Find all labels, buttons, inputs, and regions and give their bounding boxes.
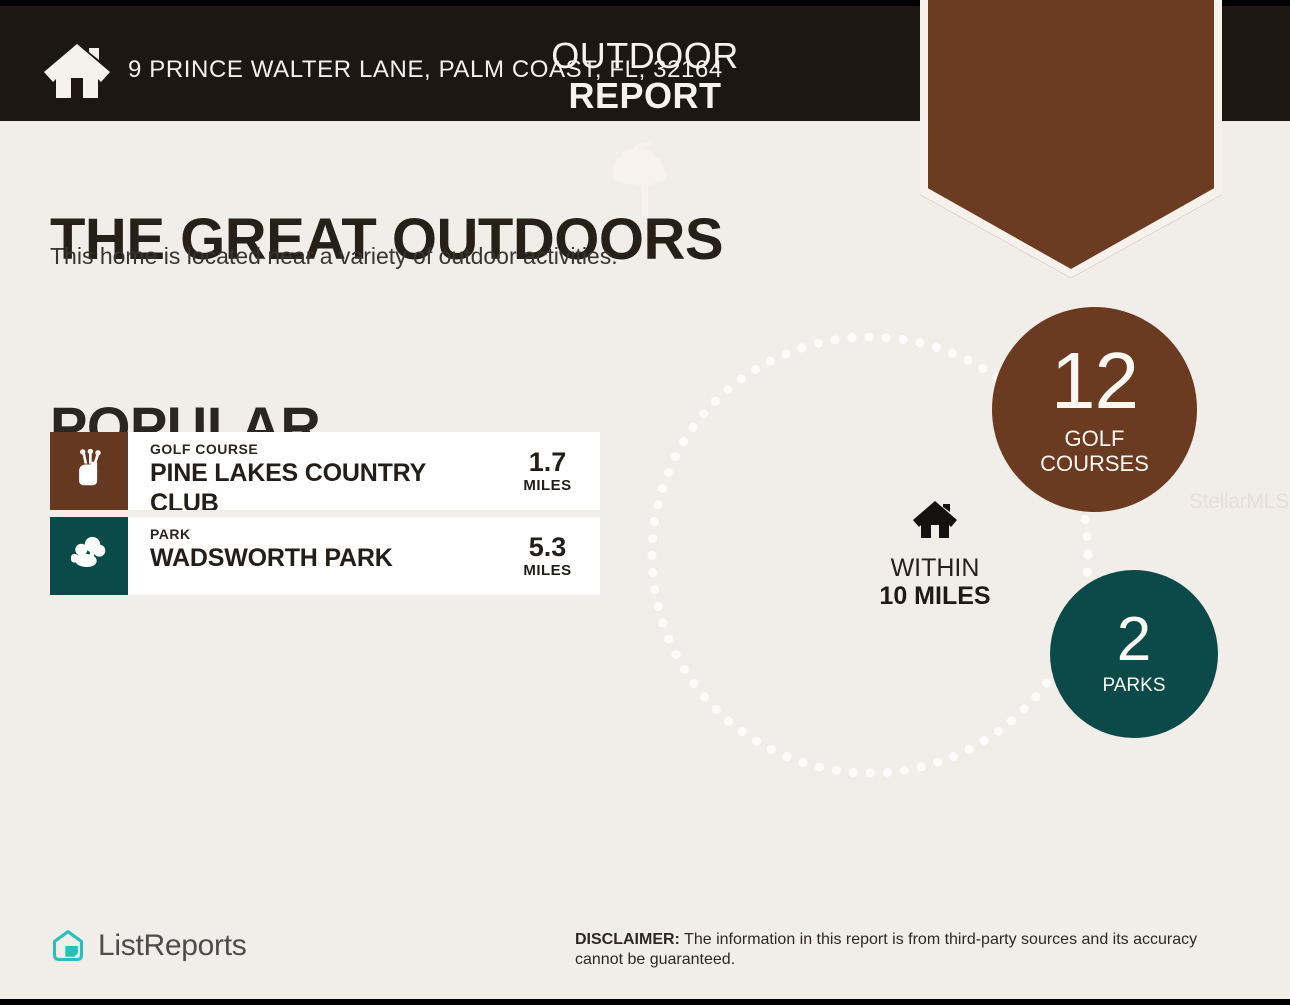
- distance-value: 1.7: [495, 448, 600, 477]
- distance-unit: MILES: [495, 562, 600, 579]
- listreports-logo[interactable]: ListReports: [50, 928, 246, 964]
- center-label-line2: 10 MILES: [845, 582, 1025, 610]
- bottom-edge-strip: [0, 999, 1290, 1005]
- list-item-icon-tile: [50, 517, 128, 595]
- list-item-body: GOLF COURSE PINE LAKES COUNTRY CLUB: [128, 432, 495, 510]
- stat-bubble-golf-courses[interactable]: 12 GOLF COURSES: [992, 307, 1197, 512]
- list-item-category: PARK: [150, 526, 495, 543]
- center-label-line1: WITHIN: [845, 554, 1025, 582]
- golf-courses-label-line1: GOLF: [1040, 426, 1149, 451]
- badge-title-line2: REPORT: [0, 76, 1290, 116]
- stat-bubble-parks[interactable]: 2 PARKS: [1050, 570, 1218, 738]
- list-item-distance: 1.7 MILES: [495, 432, 600, 510]
- stellarmls-watermark: StellarMLS: [1189, 490, 1289, 514]
- listreports-house-icon: [50, 928, 86, 964]
- disclaimer: DISCLAIMER: The information in this repo…: [575, 930, 1245, 970]
- tree-icon: [613, 140, 677, 218]
- proximity-diagram: WITHIN 10 MILES 12 GOLF COURSES 2 PARKS: [640, 300, 1260, 840]
- list-item-distance: 5.3 MILES: [495, 517, 600, 595]
- distance-unit: MILES: [495, 477, 600, 494]
- parks-count: 2: [1117, 611, 1151, 669]
- golf-bag-icon: [71, 449, 107, 494]
- list-item-body: PARK WADSWORTH PARK: [128, 517, 495, 595]
- page-subtitle: This home is located near a variety of o…: [50, 243, 618, 270]
- house-icon: [912, 500, 958, 538]
- popular-list: GOLF COURSE PINE LAKES COUNTRY CLUB 1.7 …: [50, 432, 600, 602]
- diagram-center: WITHIN 10 MILES: [845, 500, 1025, 610]
- distance-value: 5.3: [495, 533, 600, 562]
- golf-courses-count: 12: [1051, 344, 1138, 418]
- list-item-name: PINE LAKES COUNTRY CLUB: [150, 458, 495, 510]
- golf-courses-label: GOLF COURSES: [1040, 426, 1149, 476]
- list-item-name: WADSWORTH PARK: [150, 543, 495, 573]
- list-item-category: GOLF COURSE: [150, 441, 495, 458]
- park-trees-icon: [70, 536, 108, 577]
- parks-label: PARKS: [1102, 675, 1165, 697]
- badge-title-line1: OUTDOOR: [0, 36, 1290, 76]
- list-item[interactable]: PARK WADSWORTH PARK 5.3 MILES: [50, 517, 600, 595]
- list-item-icon-tile: [50, 432, 128, 510]
- golf-courses-label-line2: COURSES: [1040, 451, 1149, 476]
- listreports-logo-text: ListReports: [98, 929, 246, 963]
- list-item[interactable]: GOLF COURSE PINE LAKES COUNTRY CLUB 1.7 …: [50, 432, 600, 510]
- disclaimer-label: DISCLAIMER:: [575, 931, 680, 948]
- badge-title: OUTDOOR REPORT: [0, 36, 1290, 116]
- outdoor-report-page: 9 PRINCE WALTER LANE, PALM COAST, FL, 32…: [0, 0, 1290, 1005]
